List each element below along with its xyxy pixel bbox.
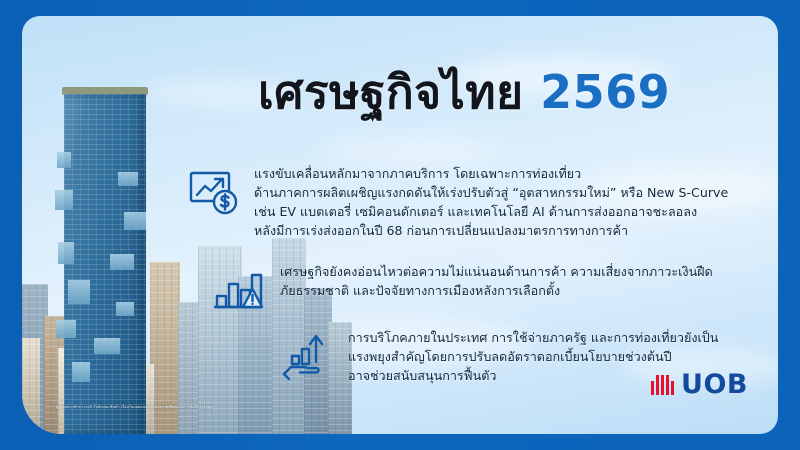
page-title: เศรษฐกิจไทย 2569 xyxy=(258,68,670,116)
cloud-decoration xyxy=(322,136,502,166)
bullet-item: แรงขับเคลื่อนหลักมาจากภาคบริการ โดยเฉพาะ… xyxy=(184,164,778,241)
bar-chart-warning-icon xyxy=(210,262,266,318)
tower-crown xyxy=(62,87,148,95)
bullet-text: แรงขับเคลื่อนหลักมาจากภาคบริการ โดยเฉพาะ… xyxy=(254,164,728,241)
title-year: 2569 xyxy=(540,65,670,119)
poster-card: เศรษฐกิจไทย 2569 แรงขับเคลื่อนหลักมาจากภ… xyxy=(22,16,778,434)
uob-bars-icon xyxy=(651,375,674,395)
chart-growth-dollar-icon xyxy=(184,164,240,220)
disclaimer-text: ผู้ลงทุนควรทำความเข้าใจลักษณะสินค้า เงื่… xyxy=(56,405,316,410)
uob-logo: UOB xyxy=(651,371,748,398)
mahanakhon-tower xyxy=(64,94,146,434)
title-main: เศรษฐกิจไทย xyxy=(258,65,524,119)
uob-wordmark: UOB xyxy=(681,371,748,398)
bullet-text: เศรษฐกิจยังคงอ่อนไหวต่อความไม่แน่นอนด้าน… xyxy=(280,262,713,300)
bullet-item: เศรษฐกิจยังคงอ่อนไหวต่อความไม่แน่นอนด้าน… xyxy=(210,262,778,318)
infographic-poster: เศรษฐกิจไทย 2569 แรงขับเคลื่อนหลักมาจากภ… xyxy=(0,0,800,450)
hand-growth-arrow-icon xyxy=(278,328,334,384)
